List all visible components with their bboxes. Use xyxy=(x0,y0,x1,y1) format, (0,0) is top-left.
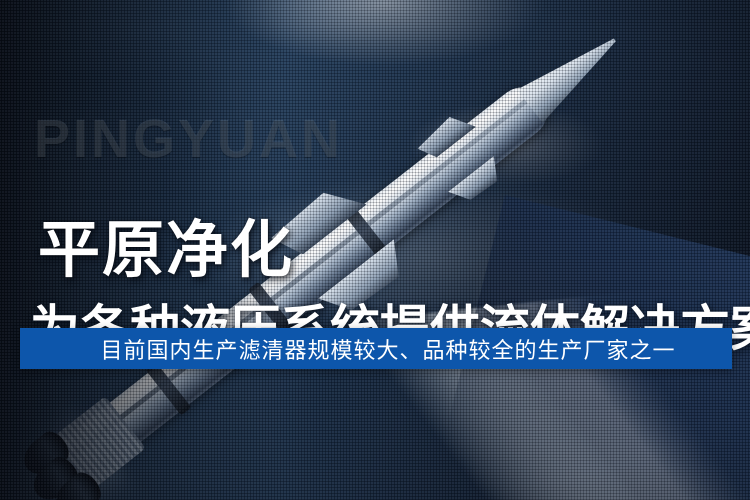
watermark-text: PINGYUAN xyxy=(34,112,343,166)
tagline-text: 目前国内生产滤清器规模较大、品种较全的生产厂家之一 xyxy=(56,328,720,369)
promo-banner: PINGYUAN 平原净化 为各种液压系统提供流体解决方案 目前国内生产滤清器规… xyxy=(0,0,750,500)
page-title: 平原净化 xyxy=(38,218,294,283)
tagline-bar: 目前国内生产滤清器规模较大、品种较全的生产厂家之一 xyxy=(20,328,732,369)
